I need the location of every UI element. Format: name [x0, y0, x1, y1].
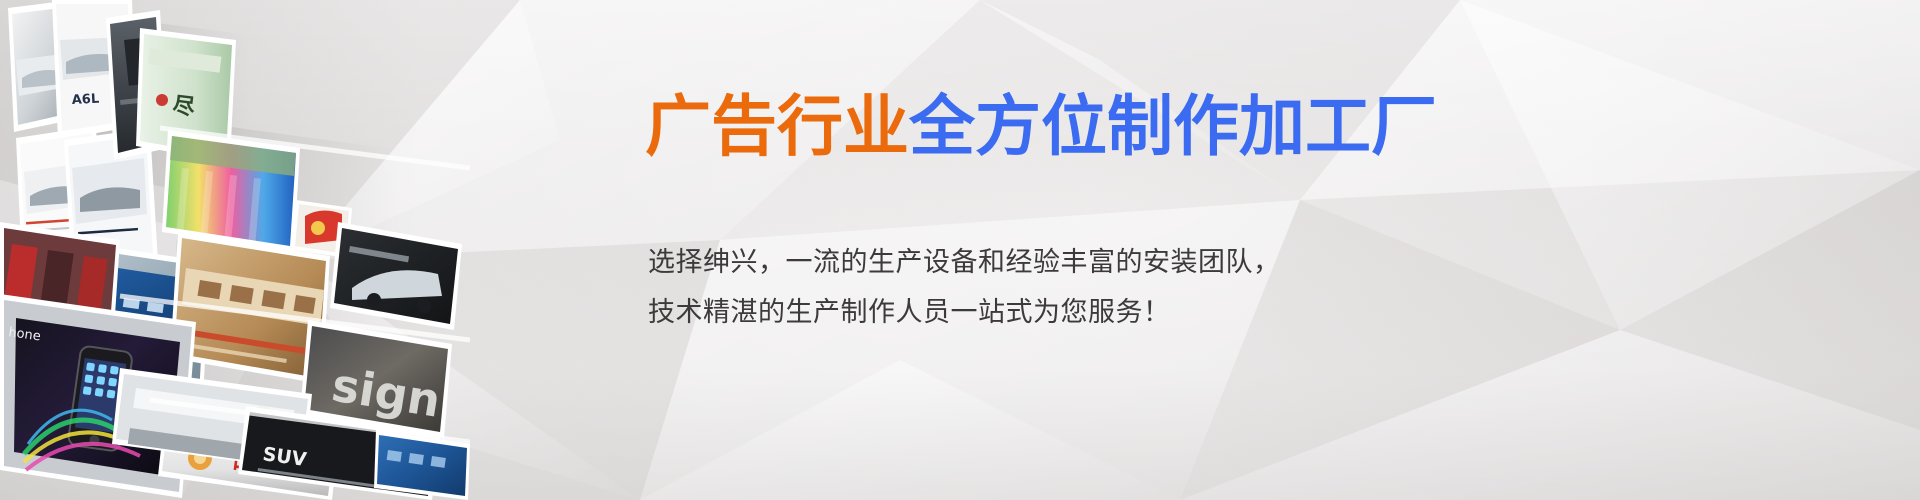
svg-text:A6L: A6L: [71, 92, 99, 108]
subtitle-line-1: 选择绅兴，一流的生产设备和经验丰富的安装团队，: [648, 238, 1281, 288]
headline: 广告行业全方位制作加工厂: [645, 92, 1437, 162]
photo-collage: A6L: [0, 0, 470, 500]
promo-banner: A6L: [0, 0, 1920, 500]
subtitle-line-2: 技术精湛的生产制作人员一站式为您服务！: [648, 288, 1281, 338]
headline-orange-part: 广告行业: [645, 88, 909, 165]
svg-text:尽: 尽: [171, 93, 197, 121]
headline-blue-part: 全方位制作加工厂: [909, 88, 1437, 165]
headline-text: 广告行业全方位制作加工厂: [645, 92, 1437, 162]
subtitle-block: 选择绅兴，一流的生产设备和经验丰富的安装团队， 技术精湛的生产制作人员一站式为您…: [648, 238, 1281, 338]
collage-perspective-layer: A6L: [0, 0, 470, 500]
